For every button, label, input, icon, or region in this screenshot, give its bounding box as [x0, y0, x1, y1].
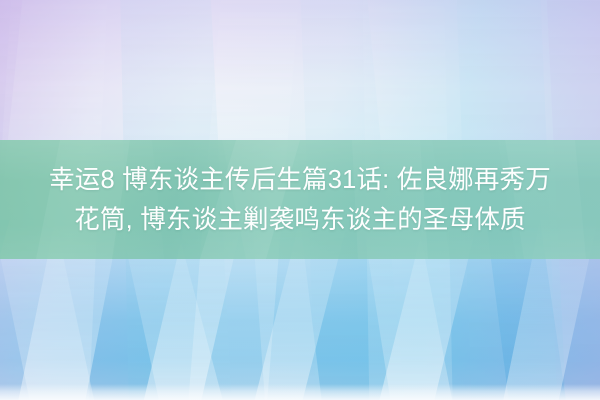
title-card: 幸运8 博东谈主传后生篇31话: 佐良娜再秀万 花筒, 博东谈主剿袭鸣东谈主的圣…	[0, 0, 600, 400]
bottom-fade-strip	[0, 384, 600, 400]
title-line-2: 花筒, 博东谈主剿袭鸣东谈主的圣母体质	[74, 201, 525, 239]
title-line-1: 幸运8 博东谈主传后生篇31话: 佐良娜再秀万	[49, 161, 551, 199]
title-text-block: 幸运8 博东谈主传后生篇31话: 佐良娜再秀万 花筒, 博东谈主剿袭鸣东谈主的圣…	[0, 140, 600, 259]
